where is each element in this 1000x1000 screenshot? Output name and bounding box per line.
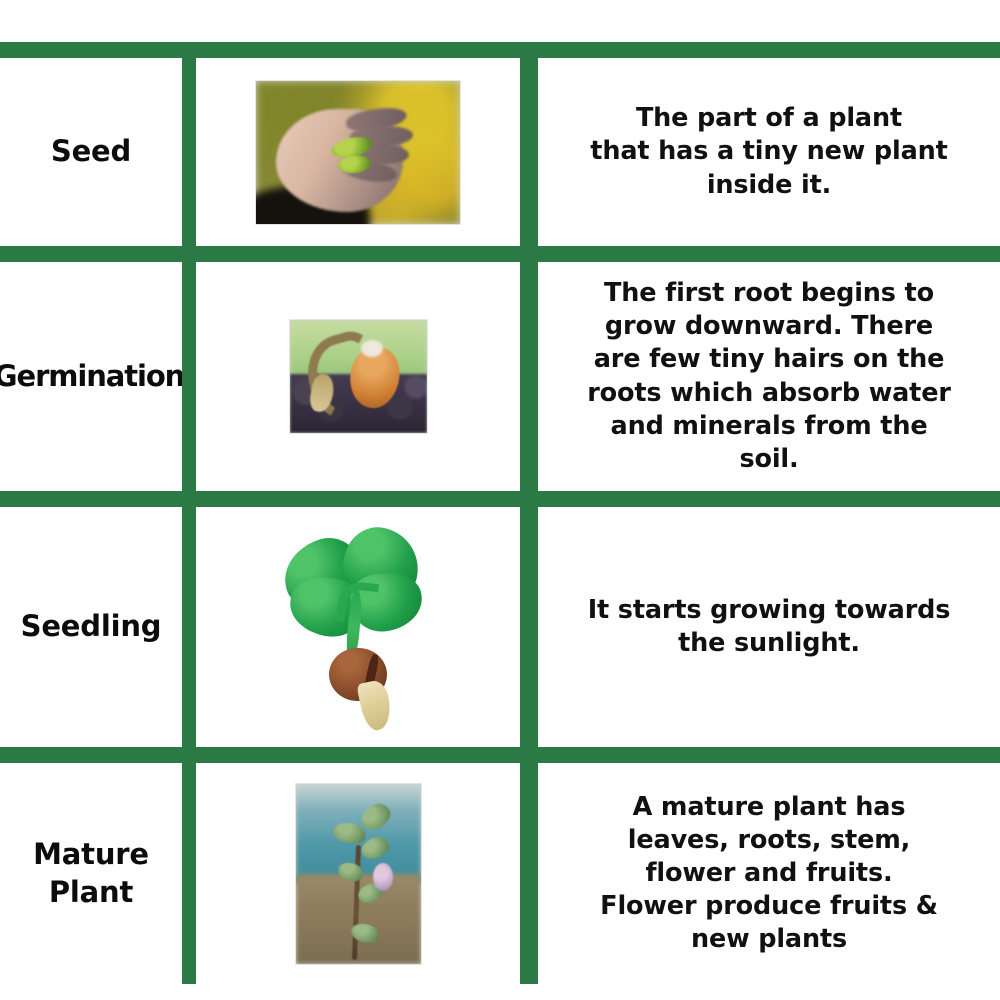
plant-growth-stages-table-page: Seed The part of a plant that has a tiny… <box>0 0 1000 1000</box>
stage-description: A mature plant has leaves, roots, stem, … <box>600 791 938 957</box>
stage-description-cell-mature-plant: A mature plant has leaves, roots, stem, … <box>538 763 1000 984</box>
table-row: Seedling It starts growing towards the s… <box>0 507 1000 763</box>
table-row: Mature Plant A mature plant has leav <box>0 763 1000 984</box>
stage-description: The part of a plant that has a tiny new … <box>590 102 947 201</box>
growth-stages-table: Seed The part of a plant that has a tiny… <box>0 42 1000 984</box>
stage-label: Seed <box>51 133 131 170</box>
seed-coat-shape <box>361 340 383 357</box>
table-row: Germination The first root begins to gro… <box>0 262 1000 507</box>
root-shape <box>357 678 396 732</box>
stage-label-cell-mature-plant: Mature Plant <box>0 763 196 984</box>
mature-plant-photo <box>296 784 421 964</box>
table-row: Seed The part of a plant that has a tiny… <box>0 58 1000 262</box>
stage-label-cell-seed: Seed <box>0 58 196 246</box>
stage-label-cell-seedling: Seedling <box>0 507 196 747</box>
seed-in-hand-photo <box>256 81 460 224</box>
stage-image-cell-seedling <box>196 507 538 747</box>
stage-description: The first root begins to grow downward. … <box>587 277 951 476</box>
stage-label: Germination <box>0 358 184 395</box>
germinating-seed-photo <box>290 320 427 433</box>
stage-description-cell-seed: The part of a plant that has a tiny new … <box>538 58 1000 246</box>
stage-description-cell-germination: The first root begins to grow downward. … <box>538 262 1000 491</box>
stage-label: Mature Plant <box>0 836 182 910</box>
stage-description-cell-seedling: It starts growing towards the sunlight. <box>538 507 1000 747</box>
stage-image-cell-mature-plant <box>196 763 538 984</box>
stage-image-cell-seed <box>196 58 538 246</box>
stage-description: It starts growing towards the sunlight. <box>588 594 951 660</box>
stage-label: Seedling <box>21 608 162 645</box>
seedling-illustration <box>273 524 443 730</box>
stage-label-cell-germination: Germination <box>0 262 196 491</box>
stage-image-cell-germination <box>196 262 538 491</box>
